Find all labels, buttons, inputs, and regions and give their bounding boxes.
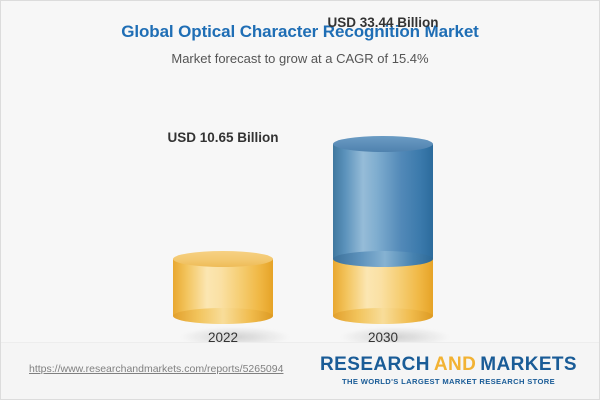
chart-header: Global Optical Character Recognition Mar… (1, 1, 599, 69)
cylinder-top-cap (333, 136, 433, 152)
chart-card: Global Optical Character Recognition Mar… (0, 0, 600, 400)
chart-title: Global Optical Character Recognition Mar… (1, 21, 599, 43)
plot-area: USD 10.65 Billion 2022 USD 33.44 Billion (1, 86, 600, 341)
logo-word-research: RESEARCH (320, 354, 430, 375)
cylinder-segment-blue-2030 (333, 144, 433, 259)
logo-wordmark: RESEARCHANDMARKETS (320, 355, 577, 374)
logo-word-markets: MARKETS (480, 354, 577, 375)
logo-tagline: THE WORLD'S LARGEST MARKET RESEARCH STOR… (320, 378, 577, 386)
cylinder-segment-yellow-2022 (173, 259, 273, 316)
bar-group-2030: USD 33.44 Billion 2030 (333, 86, 433, 341)
cylinder-top-cap (173, 251, 273, 267)
cylinder-mid-cap (333, 251, 433, 267)
bar-value-label-2022: USD 10.65 Billion (167, 130, 278, 145)
bar-group-2022: USD 10.65 Billion 2022 (173, 86, 273, 341)
cylinder-body (333, 144, 433, 259)
cylinder-2030[interactable] (333, 161, 433, 341)
report-url-link[interactable]: https://www.researchandmarkets.com/repor… (29, 363, 283, 375)
research-and-markets-logo[interactable]: RESEARCHANDMARKETS THE WORLD'S LARGEST M… (320, 355, 577, 386)
logo-word-and: AND (434, 354, 476, 375)
footer: https://www.researchandmarkets.com/repor… (1, 342, 599, 399)
cylinder-segment-yellow-2030 (333, 259, 433, 316)
cylinder-bottom-cap (333, 308, 433, 324)
bar-value-label-2030: USD 33.44 Billion (327, 15, 438, 30)
cylinder-bottom-cap (173, 308, 273, 324)
chart-subtitle: Market forecast to grow at a CAGR of 15.… (1, 49, 599, 69)
